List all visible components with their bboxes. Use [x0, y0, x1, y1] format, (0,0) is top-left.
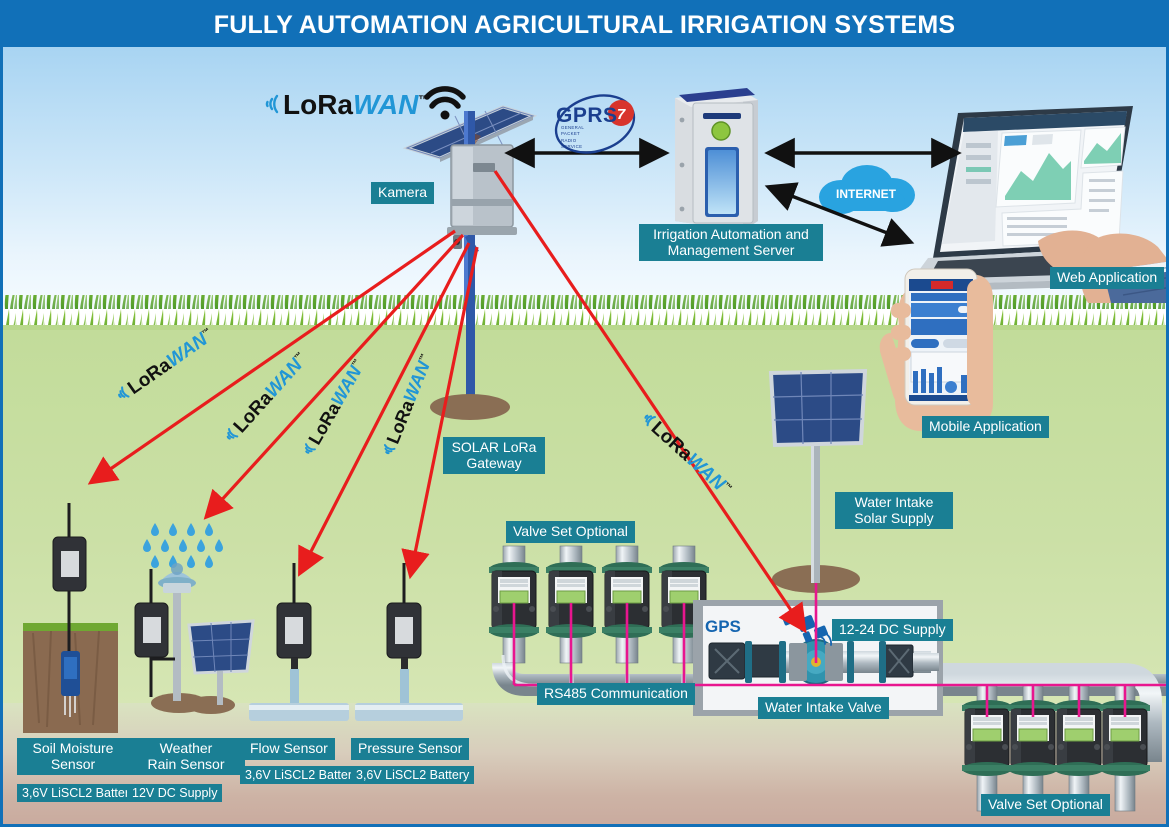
label-mobile-application: Mobile Application [922, 416, 1049, 438]
label-water-intake-valve: Water Intake Valve [758, 697, 889, 719]
lorawan-part2: WAN [353, 89, 418, 120]
label-flow-sensor: Flow Sensor [243, 738, 335, 760]
lorawan-part1: LoRa [283, 89, 353, 120]
label-flow-sensor-power: 3,6V LiSCL2 Battery [240, 766, 363, 784]
label-kamera: Kamera [371, 182, 434, 204]
sky-background [3, 47, 1166, 309]
svg-text:7: 7 [617, 106, 626, 123]
label-rs485: RS485 Communication [537, 683, 695, 705]
page-title: FULLY AUTOMATION AGRICULTURAL IRRIGATION… [214, 11, 956, 40]
label-web-application: Web Application [1050, 267, 1164, 289]
label-solar-lora-gateway: SOLAR LoRa Gateway [443, 437, 545, 474]
label-pressure-sensor: Pressure Sensor [351, 738, 469, 760]
lorawan-logo: LoRaWAN™ [261, 89, 430, 124]
label-soil-moisture-sensor: Soil Moisture Sensor [17, 738, 129, 775]
label-pressure-sensor-power: 3,6V LiSCL2 Battery [351, 766, 474, 784]
label-soil-moisture-power: 3,6V LiSCL2 Battery [17, 784, 140, 802]
label-valve-set-left: Valve Set Optional [506, 521, 635, 543]
gprs-subtitle: GENERAL PACKET RADIO SERVICE [561, 125, 584, 151]
label-water-intake-solar: Water Intake Solar Supply [835, 492, 953, 529]
lorawan-signal-arcs [261, 91, 281, 124]
lorawan-tm: ™ [418, 94, 430, 107]
label-weather-rain-power: 12V DC Supply [127, 784, 222, 802]
label-valve-set-right: Valve Set Optional [981, 794, 1110, 816]
label-weather-rain-sensor: Weather Rain Sensor [127, 738, 245, 775]
label-dc-supply: 12-24 DC Supply [832, 619, 953, 641]
page-header: FULLY AUTOMATION AGRICULTURAL IRRIGATION… [3, 3, 1166, 47]
irrigation-system-diagram: FULLY AUTOMATION AGRICULTURAL IRRIGATION… [0, 0, 1169, 827]
internet-label: INTERNET [836, 187, 896, 201]
gps-label: GPS [705, 617, 741, 637]
label-server: Irrigation Automation and Management Ser… [639, 224, 823, 261]
field-background [3, 328, 1166, 708]
